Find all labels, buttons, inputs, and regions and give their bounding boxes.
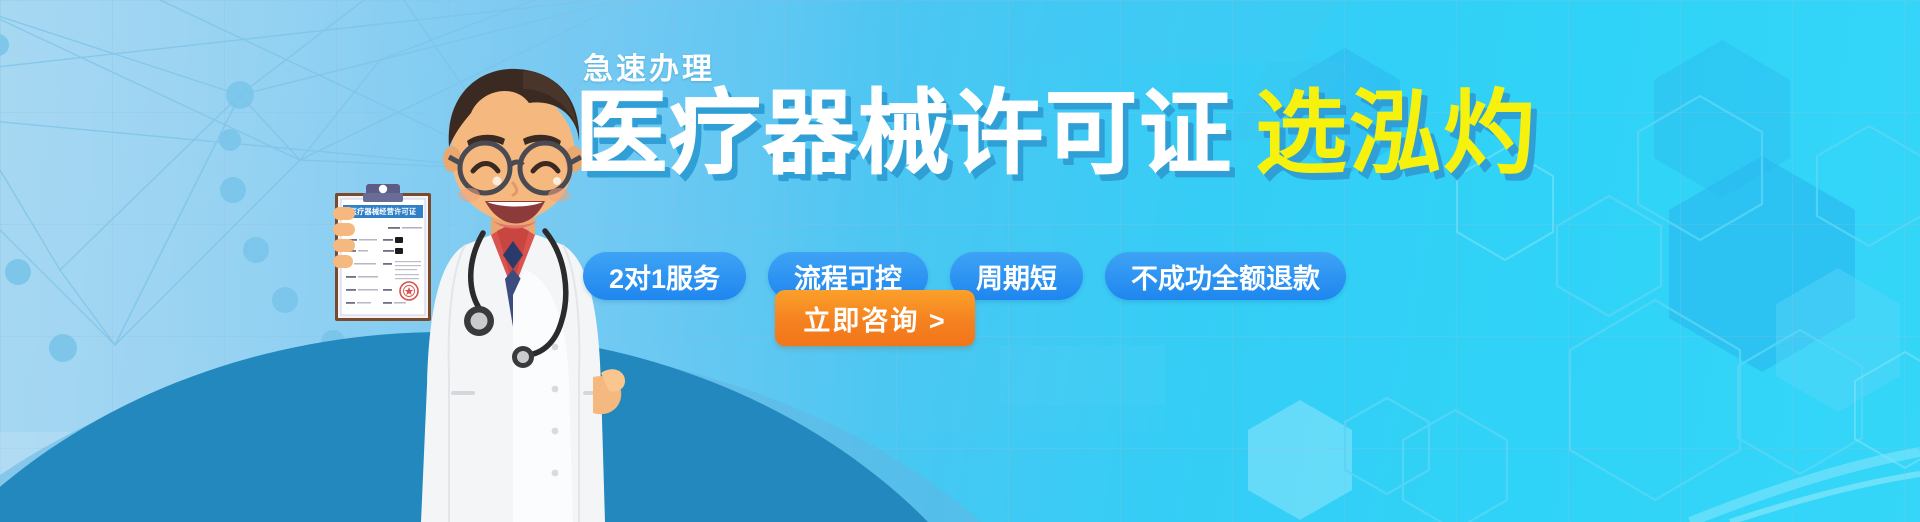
feature-pill-1[interactable]: 2对1服务 xyxy=(583,252,746,300)
promo-banner: 医疗器械经营许可证 xyxy=(0,0,1920,522)
banner-content: 急速办理 医疗器械许可证 选泓灼 2对1服务 流程可控 周期短 不成功全额退款 … xyxy=(0,0,1920,522)
banner-headline: 医疗器械许可证 选泓灼 xyxy=(575,88,1537,180)
headline-highlight-text: 选泓灼 xyxy=(1255,88,1537,180)
feature-pill-4[interactable]: 不成功全额退款 xyxy=(1105,252,1346,300)
banner-eyebrow: 急速办理 xyxy=(583,44,715,88)
headline-primary-text: 医疗器械许可证 xyxy=(575,88,1233,180)
consult-now-button[interactable]: 立即咨询 > xyxy=(775,290,975,346)
